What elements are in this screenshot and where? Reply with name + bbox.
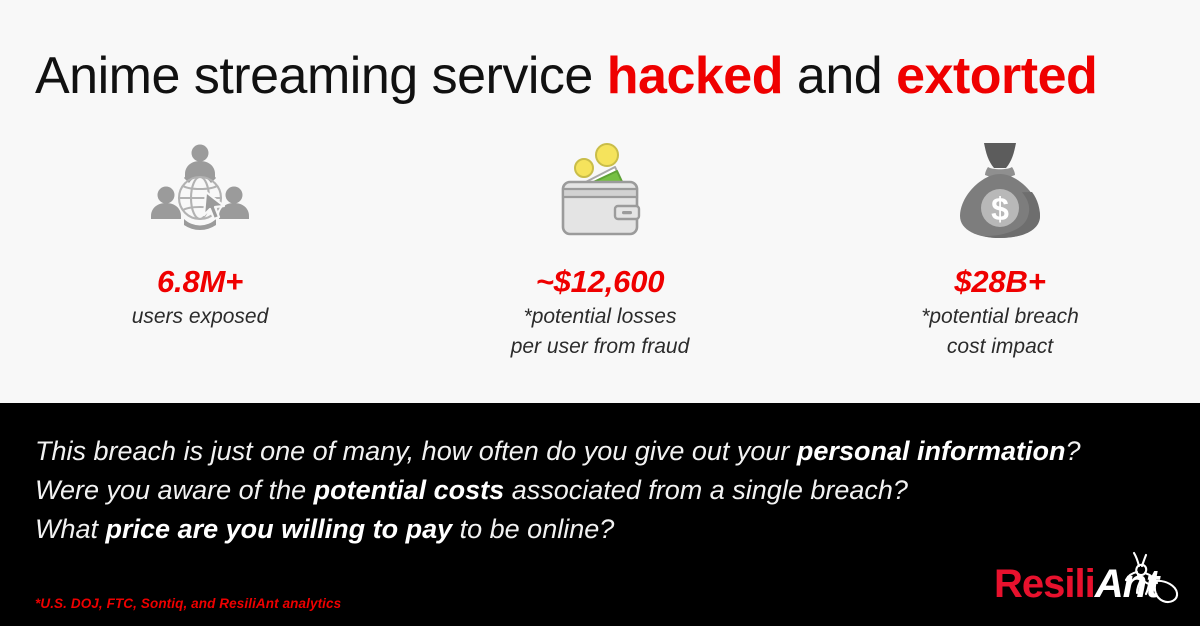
stat-value: $28B+ (954, 264, 1045, 300)
money-bag-icon: $ (940, 136, 1060, 240)
body-line-3-bold: price are you willing to pay (106, 514, 453, 544)
stat-value: 6.8M+ (157, 264, 243, 300)
bottom-dark-section: This breach is just one of many, how oft… (0, 403, 1200, 626)
body-line-1-bold: personal information (797, 436, 1066, 466)
body-line-3-post: to be online? (452, 514, 614, 544)
headline-highlight-extorted: extorted (896, 47, 1097, 105)
stat-value: ~$12,600 (536, 264, 665, 300)
resiliant-logo: ResiliAnt (994, 552, 1184, 612)
headline-part-2: and (783, 47, 896, 105)
stat-label: *potential breach cost impact (921, 302, 1079, 363)
wallet-money-icon (540, 136, 660, 240)
stats-row: 6.8M+ users exposed (0, 136, 1200, 363)
users-globe-icon (140, 136, 260, 240)
body-line-3-pre: What (35, 514, 106, 544)
svg-text:$: $ (991, 191, 1009, 227)
headline-highlight-hacked: hacked (607, 47, 783, 105)
stat-card-breach-cost: $ $28B+ *potential breach cost impact (800, 136, 1200, 363)
stat-label: *potential losses per user from fraud (511, 302, 690, 363)
body-line-2-bold: potential costs (314, 475, 505, 505)
body-line-2: Were you aware of the potential costs as… (35, 471, 1115, 510)
body-copy: This breach is just one of many, how oft… (35, 432, 1115, 549)
body-line-3: What price are you willing to pay to be … (35, 510, 1115, 549)
stat-card-users-exposed: 6.8M+ users exposed (0, 136, 400, 363)
body-line-1: This breach is just one of many, how oft… (35, 432, 1115, 471)
body-line-2-post: associated from a single breach? (504, 475, 908, 505)
headline-part-1: Anime streaming service (35, 47, 607, 105)
page-title: Anime streaming service hacked and extor… (35, 48, 1097, 105)
stat-card-potential-losses: ~$12,600 *potential losses per user from… (400, 136, 800, 363)
body-line-1-post: ? (1065, 436, 1080, 466)
stat-label: users exposed (132, 302, 269, 332)
body-line-1-pre: This breach is just one of many, how oft… (35, 436, 797, 466)
top-light-section: Anime streaming service hacked and extor… (0, 0, 1200, 403)
ant-icon (1122, 550, 1184, 606)
body-line-2-pre: Were you aware of the (35, 475, 314, 505)
infographic-canvas: Anime streaming service hacked and extor… (0, 0, 1200, 626)
source-footnote: *U.S. DOJ, FTC, Sontiq, and ResiliAnt an… (35, 596, 341, 611)
logo-text-resili: Resili (994, 562, 1095, 606)
